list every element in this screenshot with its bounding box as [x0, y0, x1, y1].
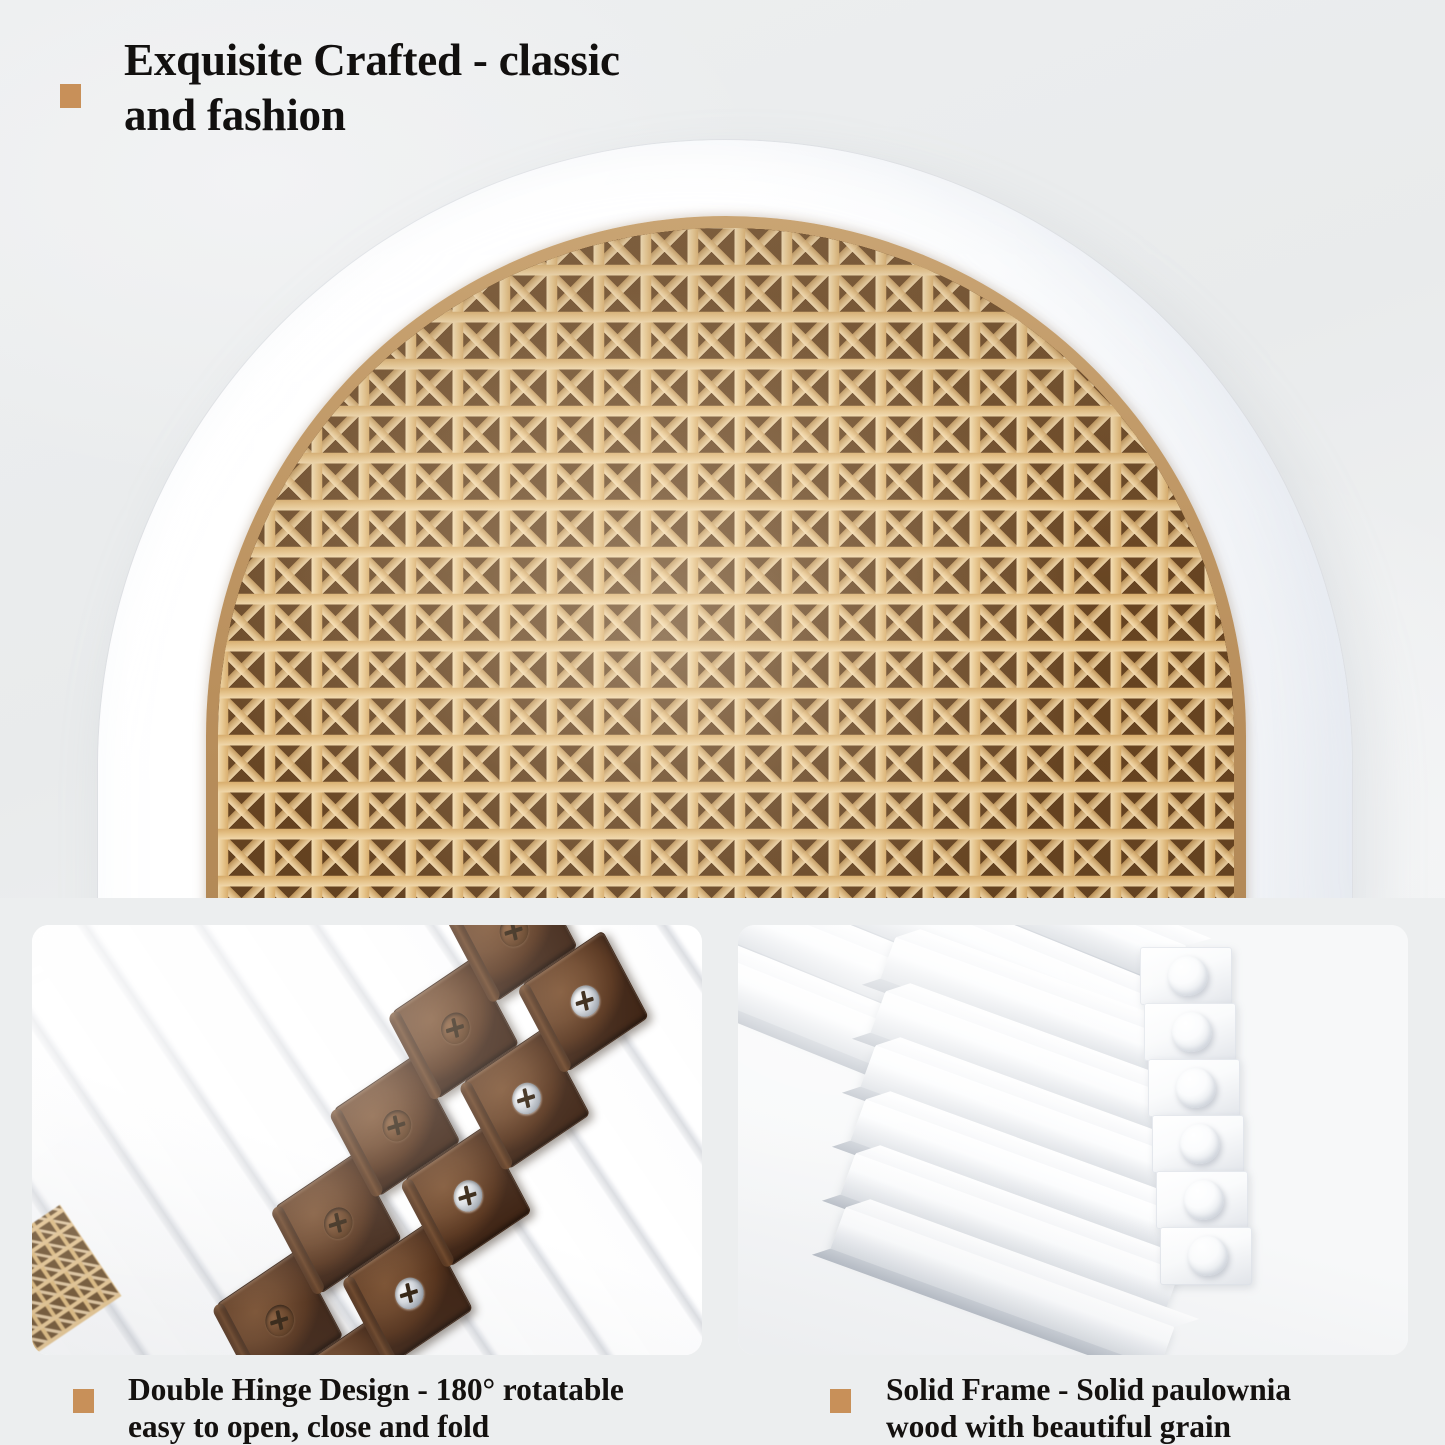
screw-icon — [390, 1272, 429, 1315]
bumper-pad-icon — [1176, 1068, 1216, 1108]
frame-end-cap — [1160, 1227, 1252, 1285]
screw-icon — [377, 1104, 416, 1147]
frame-end-cap — [1152, 1115, 1244, 1173]
bumper-pad-icon — [1180, 1124, 1220, 1164]
frame-end-cap — [1140, 947, 1232, 1005]
rattan-cane-panel — [218, 228, 1234, 898]
page-title-block: Exquisite Crafted - classic and fashion — [0, 0, 1445, 150]
page-title: Exquisite Crafted - classic and fashion — [124, 33, 924, 143]
square-bullet-icon — [830, 1389, 851, 1413]
screw-icon — [319, 1201, 358, 1244]
screw-icon — [448, 1174, 487, 1217]
caption-double-hinge: Double Hinge Design - 180° rotatable eas… — [32, 1375, 702, 1435]
bumper-pad-icon — [1188, 1236, 1228, 1276]
frame-end-cap — [1144, 1003, 1236, 1061]
square-bullet-icon — [73, 1389, 94, 1413]
frame-end-cap — [1156, 1171, 1248, 1229]
double-hinge-panel — [32, 925, 702, 1355]
screw-icon — [260, 1299, 299, 1342]
bumper-pad-icon — [1168, 956, 1208, 996]
caption-solid-frame: Solid Frame - Solid paulownia wood with … — [738, 1375, 1408, 1435]
frame-end-cap — [1148, 1059, 1240, 1117]
screw-icon — [507, 1077, 546, 1120]
bumper-pad-icon — [1172, 1012, 1212, 1052]
solid-frame-photo — [738, 925, 1408, 1355]
screw-icon — [494, 925, 533, 953]
bumper-pad-icon — [1184, 1180, 1224, 1220]
square-bullet-icon — [60, 84, 81, 108]
cane-weave-texture — [218, 228, 1234, 898]
solid-frame-panel — [738, 925, 1408, 1355]
hinge-photo — [32, 925, 702, 1355]
screw-icon — [566, 979, 605, 1022]
screw-icon — [436, 1007, 475, 1050]
caption-text: Double Hinge Design - 180° rotatable eas… — [128, 1371, 704, 1445]
caption-text: Solid Frame - Solid paulownia wood with … — [886, 1371, 1406, 1445]
